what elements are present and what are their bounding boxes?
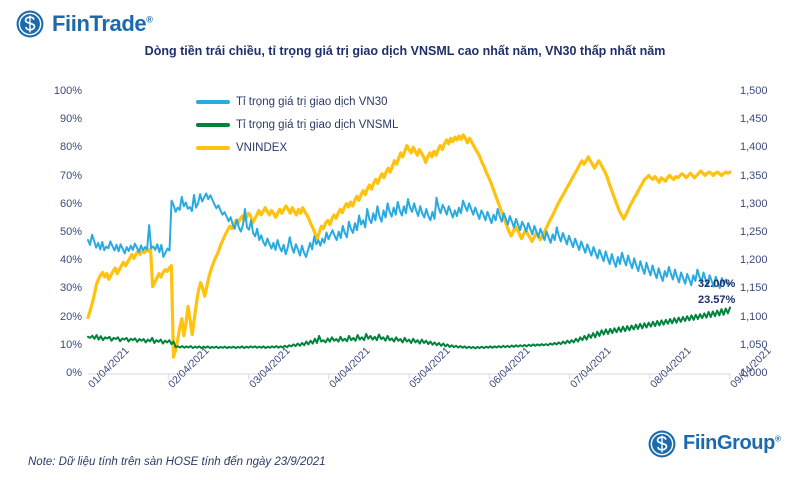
y-axis-right-tick: 1,300 [740, 198, 786, 210]
brand-name-text: FiinGroup [683, 432, 775, 454]
legend-swatch-vnsml [196, 123, 230, 127]
y-axis-left-tick: 20% [36, 311, 82, 323]
y-axis-left-tick: 10% [36, 339, 82, 351]
brand-name-text: FiinTrade [52, 11, 146, 36]
x-axis-tick-label: 04/04/2021 [327, 345, 373, 391]
y-axis-left-tick: 90% [36, 113, 82, 125]
x-axis-tick-label: 05/04/2021 [407, 345, 453, 391]
y-axis-right-tick: 1,450 [740, 113, 786, 125]
y-axis-left-tick: 50% [36, 226, 82, 238]
legend-item-vnsml[interactable]: Tỉ trọng giá trị giao dịch VNSML [196, 113, 496, 136]
brand-wordmark-fiintrade: FiinTrade® [52, 11, 152, 37]
chart-plot-area [0, 0, 810, 480]
y-axis-left-tick: 0% [36, 367, 82, 379]
fiin-circle-s-logo-icon [16, 10, 44, 38]
y-axis-left-tick: 80% [36, 141, 82, 153]
series-line-vnsml [88, 308, 730, 349]
x-axis-tick-label: 02/04/2021 [166, 345, 212, 391]
x-axis-tick-label: 03/04/2021 [247, 345, 293, 391]
legend-label-vnsml: Tỉ trọng giá trị giao dịch VNSML [236, 119, 398, 131]
y-axis-left-tick: 70% [36, 170, 82, 182]
legend-label-vnindex: VNINDEX [236, 142, 287, 154]
y-axis-left-tick: 60% [36, 198, 82, 210]
y-axis-left-tick: 30% [36, 282, 82, 294]
registered-trademark-icon: ® [146, 15, 152, 25]
page-header: FiinTrade® [0, 0, 810, 40]
y-axis-right-tick: 1,200 [740, 254, 786, 266]
brand-wordmark-fiingroup: FiinGroup® [683, 432, 780, 455]
data-label-vn30: 32.00% [698, 278, 735, 290]
x-axis-tick-label: 07/04/2021 [568, 345, 614, 391]
legend-item-vnindex[interactable]: VNINDEX [196, 136, 496, 159]
x-axis-tick-label: 08/04/2021 [648, 345, 694, 391]
y-axis-right-tick: 1,350 [740, 170, 786, 182]
page-title: Dòng tiền trái chiều, tỉ trọng giá trị g… [0, 44, 810, 58]
legend-label-vn30: Tỉ trọng giá trị giao dịch VN30 [236, 96, 388, 108]
page-footer-brand: FiinGroup® [648, 428, 798, 462]
y-axis-right-tick: 1,500 [740, 85, 786, 97]
x-axis-tick-label: 01/04/2021 [86, 345, 132, 391]
y-axis-right-tick: 1,250 [740, 226, 786, 238]
registered-trademark-icon: ® [775, 434, 781, 443]
y-axis-right-tick: 1,100 [740, 311, 786, 323]
chart-legend: Tỉ trọng giá trị giao dịch VN30 Tỉ trọng… [196, 90, 496, 159]
series-line-vn30 [88, 194, 730, 288]
y-axis-left-tick: 100% [36, 85, 82, 97]
chart-canvas [0, 0, 810, 480]
legend-swatch-vnindex [196, 146, 230, 150]
legend-item-vn30[interactable]: Tỉ trọng giá trị giao dịch VN30 [196, 90, 496, 113]
y-axis-right-tick: 1,400 [740, 141, 786, 153]
y-axis-right-tick: 1,150 [740, 282, 786, 294]
series-line-vnindex [88, 135, 730, 357]
footnote-text: Note: Dữ liệu tính trên sàn HOSE tính đế… [28, 456, 326, 468]
fiin-circle-s-logo-icon [648, 430, 676, 458]
y-axis-left-tick: 40% [36, 254, 82, 266]
x-axis-tick-label: 06/04/2021 [487, 345, 533, 391]
legend-swatch-vn30 [196, 100, 230, 104]
data-label-vnsml: 23.57% [698, 294, 735, 306]
